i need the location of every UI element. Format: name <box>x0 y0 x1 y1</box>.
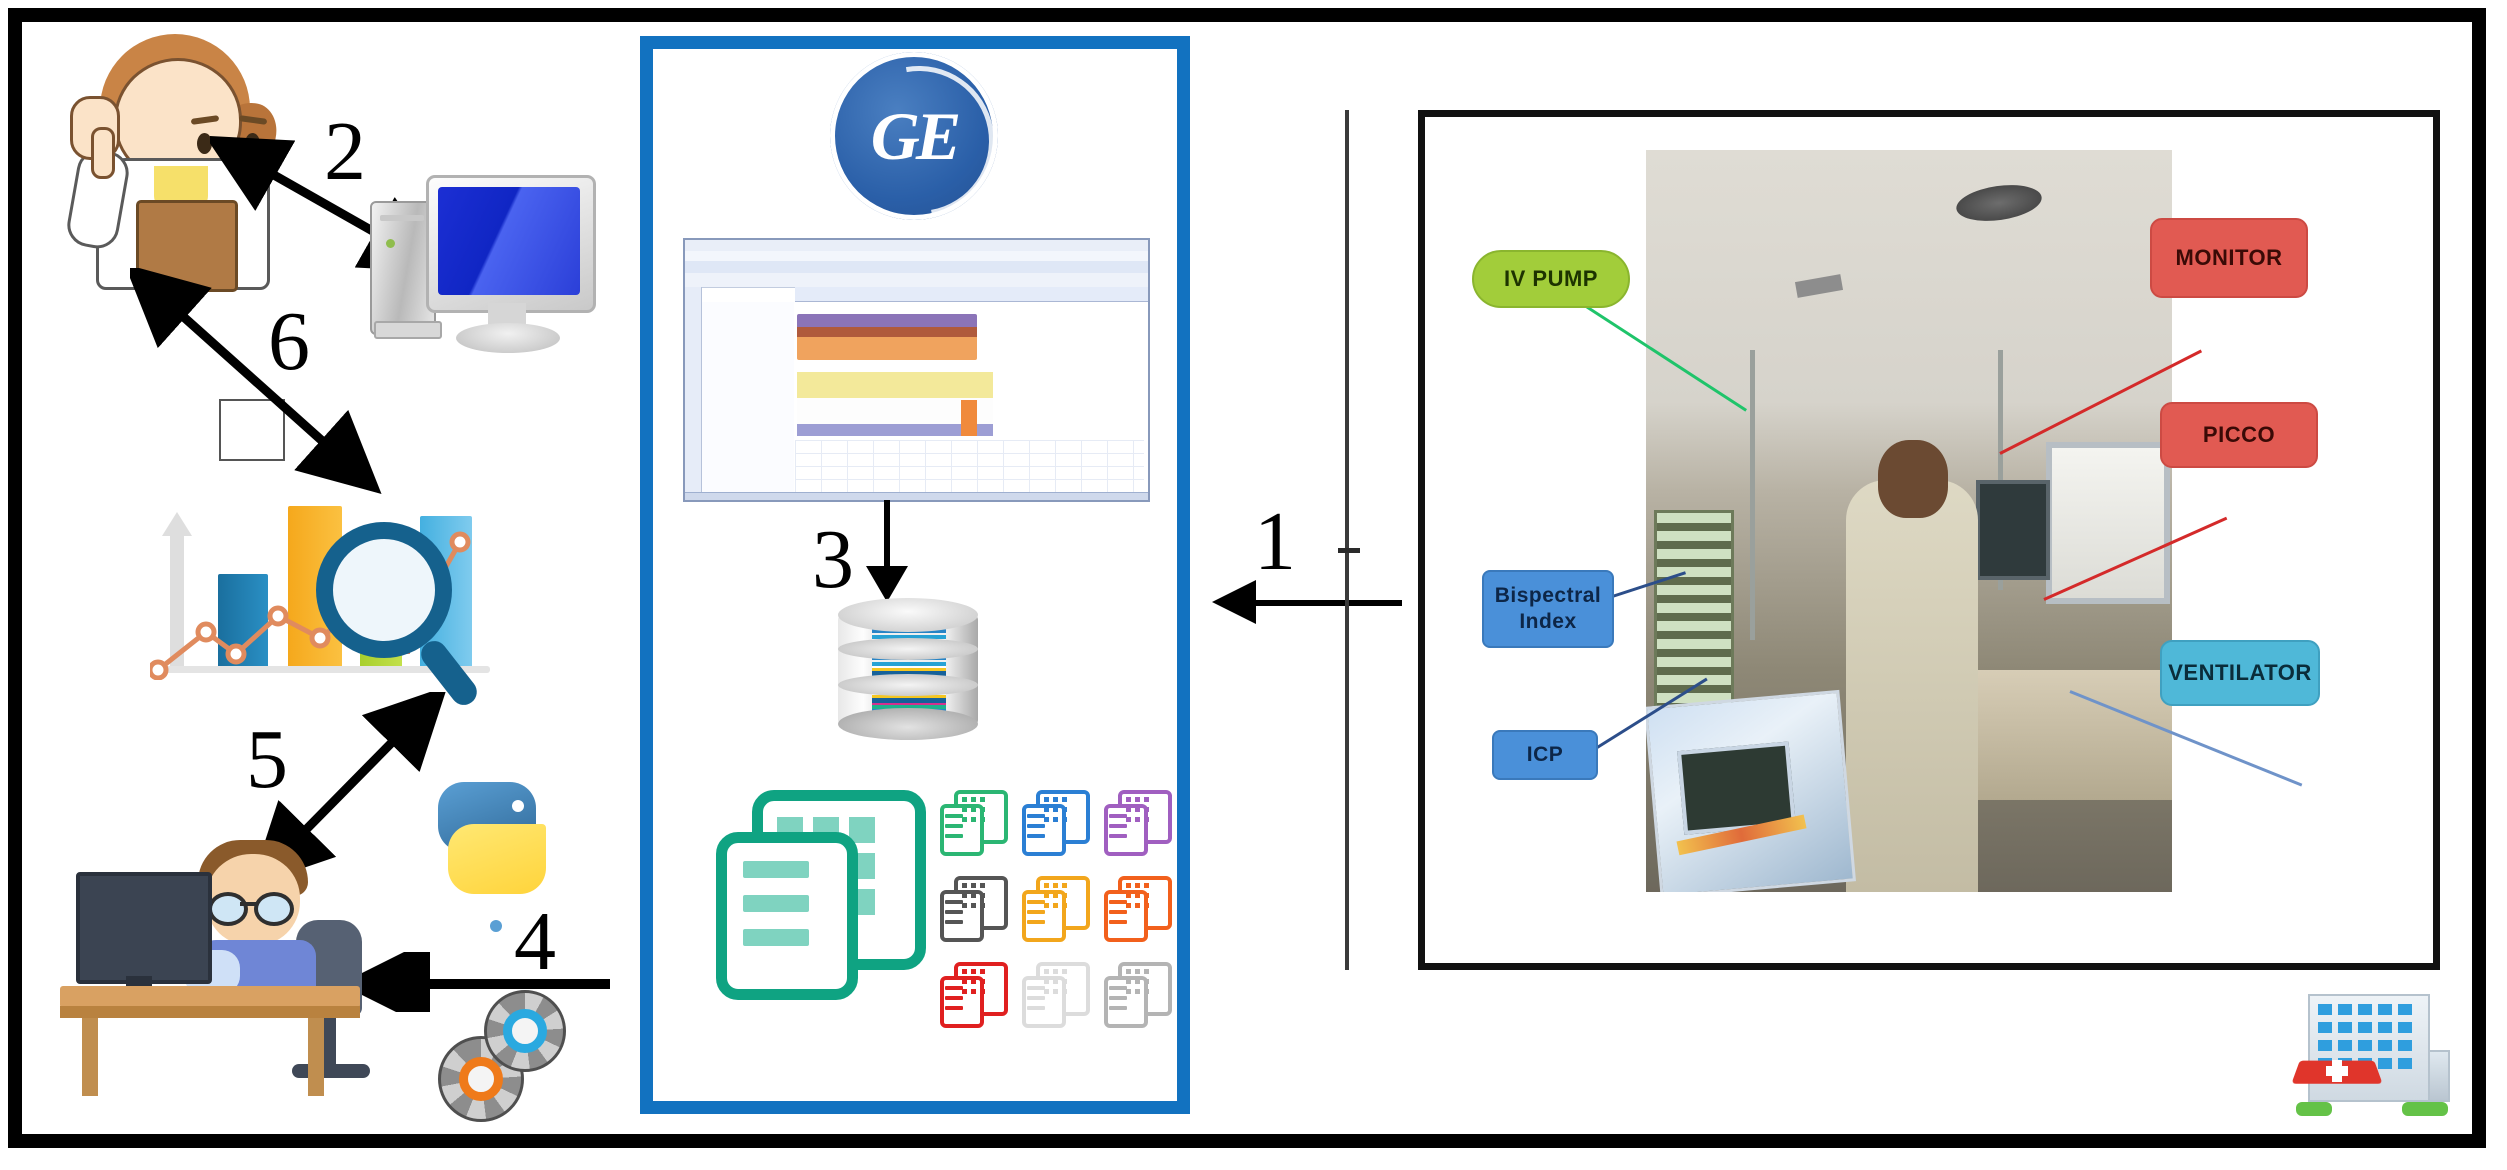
bedside-monitor <box>1976 480 2050 580</box>
pc-monitor-foot <box>456 323 560 353</box>
record-variants-grid <box>940 790 1164 1026</box>
glasses-icon <box>208 892 294 918</box>
cis-time-ruler <box>795 287 1148 302</box>
hospital-main-block <box>2308 994 2430 1102</box>
ceiling-light <box>1954 180 2044 226</box>
room-window <box>2046 442 2170 604</box>
glasses-lens-right <box>254 892 294 926</box>
pc-screen <box>438 187 580 295</box>
iv-pole-left <box>1750 350 1755 640</box>
gear-orange-ring <box>459 1057 503 1101</box>
flow-number-1: 1 <box>1254 500 1296 584</box>
primary-record-card <box>716 832 858 1000</box>
clinician-brow-left <box>191 115 220 125</box>
clinician-hand <box>70 96 120 160</box>
nurse-head <box>1878 440 1948 518</box>
record-icon-dark-grey <box>940 876 1000 938</box>
clinical-information-system-screenshot <box>683 238 1150 502</box>
hospital-grass-right <box>2402 1102 2448 1116</box>
pc-monitor <box>426 175 596 313</box>
cis-sidebar <box>685 287 702 500</box>
node-picco[interactable]: PICCO <box>2160 402 2318 468</box>
infusion-pump-rack <box>1654 510 1734 726</box>
cis-toolbar <box>685 273 1148 288</box>
gear-blue-ring <box>503 1009 547 1053</box>
desk-leg-right <box>308 1018 324 1096</box>
cis-trend-band-yellow <box>797 372 993 398</box>
flow-number-6: 6 <box>268 300 310 384</box>
red-cross-icon-bar <box>2326 1066 2348 1076</box>
pc-power-led <box>386 239 395 248</box>
node-monitor[interactable]: MONITOR <box>2150 218 2308 298</box>
cis-status-bar <box>685 492 1148 500</box>
database-top <box>838 598 978 632</box>
arrow-3-stem <box>884 500 890 574</box>
record-icon-orange <box>1104 876 1164 938</box>
desk-edge <box>60 1006 360 1018</box>
node-ventilator[interactable]: VENTILATOR <box>2160 640 2320 706</box>
clinician-pointing-finger <box>91 127 115 179</box>
panel-separator <box>1345 110 1349 970</box>
data-scientist-icon <box>60 800 390 1100</box>
monitor-closeup-inset <box>1646 690 1856 892</box>
hospital-grass-left <box>2296 1102 2332 1116</box>
gear-blue <box>484 990 566 1072</box>
python-logo-yellow <box>448 824 546 894</box>
glasses-lens-left <box>208 892 248 926</box>
python-eye-lower <box>490 920 502 932</box>
cis-waveform-band <box>797 314 977 360</box>
node-icp[interactable]: ICP <box>1492 730 1598 780</box>
database-ring-lower <box>838 674 978 696</box>
pc-optical-drive <box>380 215 424 221</box>
python-logo-icon <box>432 778 550 896</box>
python-eye-upper <box>512 800 524 812</box>
analytics-icon <box>120 460 520 710</box>
ge-logo-icon: GE <box>830 52 998 220</box>
record-icon-red <box>940 962 1000 1024</box>
database-bottom <box>838 708 978 740</box>
cis-parameter-list <box>702 302 794 494</box>
node-iv-pump[interactable]: IV PUMP <box>1472 250 1630 308</box>
database-icon <box>838 598 978 742</box>
arrow-3-head <box>866 566 908 602</box>
record-icon-blue <box>1022 790 1082 852</box>
figure-canvas: 2 6 <box>0 0 2507 1170</box>
database-ring-upper <box>838 638 978 660</box>
panel-separator-tick-left <box>1338 548 1360 553</box>
record-icon-light-grey <box>1022 962 1082 1024</box>
record-icon-green <box>940 790 1000 852</box>
ge-logo-text: GE <box>830 52 998 220</box>
cis-event-marker <box>961 400 977 436</box>
flow-number-2: 2 <box>324 110 366 194</box>
ceiling-vent <box>1795 274 1843 298</box>
primary-record-icon <box>716 790 906 980</box>
desk-monitor <box>76 872 212 984</box>
gears-icon <box>438 990 568 1110</box>
workstation-icon <box>370 175 590 360</box>
cis-data-grid <box>795 440 1144 494</box>
icu-bedside-photo <box>1646 150 2172 892</box>
chair-post <box>322 1014 336 1068</box>
search-icon <box>316 522 452 658</box>
arrow-1-stem <box>1252 600 1402 606</box>
flow-number-4: 4 <box>514 900 556 984</box>
desk-leg-left <box>82 1018 98 1096</box>
node-bispectral-index[interactable]: Bispectral Index <box>1482 570 1614 648</box>
flow-number-5: 5 <box>246 718 288 802</box>
flow-number-3: 3 <box>812 518 854 602</box>
desk-top <box>60 986 360 1008</box>
record-icon-amber <box>1022 876 1082 938</box>
nurse-figure <box>1846 480 1978 892</box>
record-icon-grey <box>1104 962 1164 1024</box>
hospital-building-icon <box>2290 980 2460 1120</box>
record-icon-purple <box>1104 790 1164 852</box>
chair-base <box>292 1064 370 1078</box>
arrow-1-head <box>1212 580 1256 624</box>
